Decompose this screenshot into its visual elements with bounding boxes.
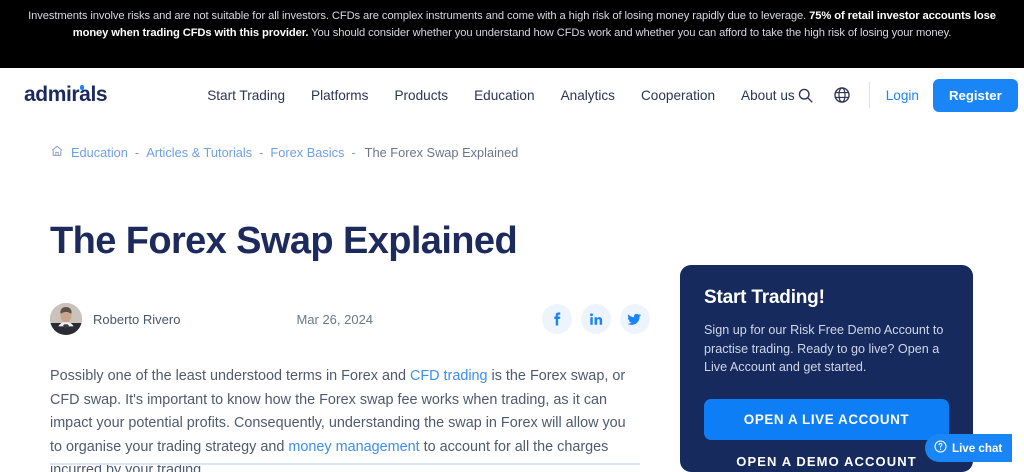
- breadcrumb-item-education[interactable]: Education: [71, 145, 128, 160]
- header-divider: [869, 82, 870, 108]
- site-logo[interactable]: admirals: [24, 83, 107, 107]
- home-icon[interactable]: [50, 144, 64, 161]
- nav-item-products[interactable]: Products: [394, 88, 448, 103]
- cta-description: Sign up for our Risk Free Demo Account t…: [704, 321, 949, 377]
- breadcrumb-separator: -: [351, 145, 355, 160]
- breadcrumb-item-forex-basics[interactable]: Forex Basics: [270, 145, 344, 160]
- paragraph-part-1: Possibly one of the least understood ter…: [50, 368, 410, 384]
- article-paragraph: Possibly one of the least understood ter…: [50, 365, 635, 472]
- open-demo-account-button[interactable]: OPEN A DEMO ACCOUNT: [704, 454, 949, 469]
- breadcrumb: Education - Articles & Tutorials - Forex…: [0, 122, 1024, 161]
- twitter-share-icon[interactable]: [620, 304, 650, 334]
- main-navigation: Start Trading Platforms Products Educati…: [207, 88, 795, 103]
- live-chat-label: Live chat: [952, 442, 1002, 455]
- page-title: The Forex Swap Explained: [50, 219, 650, 263]
- globe-icon[interactable]: [831, 84, 853, 106]
- breadcrumb-separator: -: [135, 145, 139, 160]
- breadcrumb-separator: -: [259, 145, 263, 160]
- question-circle-icon: [934, 440, 947, 456]
- register-button[interactable]: Register: [933, 79, 1018, 112]
- breadcrumb-current-page: The Forex Swap Explained: [365, 145, 519, 160]
- article-column: The Forex Swap Explained Roberto Rivero …: [50, 219, 650, 472]
- link-cfd-trading[interactable]: CFD trading: [410, 368, 488, 384]
- publish-date: Mar 26, 2024: [296, 312, 373, 327]
- link-money-management[interactable]: money management: [288, 439, 419, 455]
- header-actions: Login Register: [795, 79, 1018, 112]
- nav-item-about-us[interactable]: About us: [741, 88, 795, 103]
- breadcrumb-item-articles-tutorials[interactable]: Articles & Tutorials: [146, 145, 252, 160]
- nav-item-platforms[interactable]: Platforms: [311, 88, 368, 103]
- nav-item-analytics[interactable]: Analytics: [561, 88, 615, 103]
- site-header: admirals Start Trading Platforms Product…: [0, 68, 1024, 122]
- nav-item-cooperation[interactable]: Cooperation: [641, 88, 715, 103]
- linkedin-share-icon[interactable]: [581, 304, 611, 334]
- author-name: Roberto Rivero: [93, 312, 180, 327]
- cta-title: Start Trading!: [704, 287, 949, 309]
- logo-text: admirals: [24, 83, 107, 106]
- article-meta: Roberto Rivero Mar 26, 2024: [50, 300, 650, 338]
- open-live-account-button[interactable]: OPEN A LIVE ACCOUNT: [704, 399, 949, 440]
- social-share-group: [542, 304, 650, 334]
- risk-disclaimer-bar: Investments involve risks and are not su…: [0, 0, 1024, 68]
- disclaimer-line-1: Investments involve risks and are not su…: [28, 10, 806, 22]
- logo-dot-icon: [80, 85, 85, 90]
- facebook-share-icon[interactable]: [542, 304, 572, 334]
- nav-item-start-trading[interactable]: Start Trading: [207, 88, 285, 103]
- search-icon[interactable]: [795, 84, 817, 106]
- content-divider: [50, 463, 640, 465]
- avatar: [50, 303, 82, 335]
- login-link[interactable]: Login: [886, 88, 919, 103]
- live-chat-button[interactable]: Live chat: [925, 434, 1012, 462]
- disclaimer-line-2: You should consider whether you understa…: [308, 27, 951, 39]
- nav-item-education[interactable]: Education: [474, 88, 534, 103]
